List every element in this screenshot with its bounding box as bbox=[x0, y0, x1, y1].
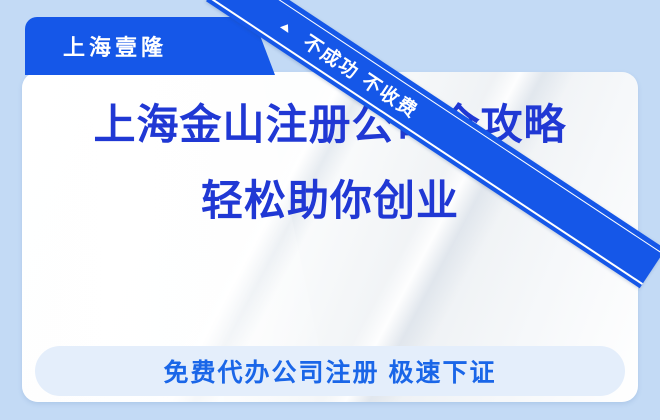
headline-line-primary: 上海金山注册公司全攻略 bbox=[0, 94, 660, 156]
cta-pill-label: 免费代办公司注册 极速下证 bbox=[164, 353, 497, 389]
cta-pill[interactable]: 免费代办公司注册 极速下证 bbox=[35, 346, 625, 396]
promo-banner: 上海壹隆 不成功 不收费 上海金山注册公司全攻略 轻松助你创业 免费代办公司注册… bbox=[0, 0, 660, 420]
brand-tab-label: 上海壹隆 bbox=[25, 30, 167, 62]
brand-tab: 上海壹隆 bbox=[25, 17, 275, 75]
